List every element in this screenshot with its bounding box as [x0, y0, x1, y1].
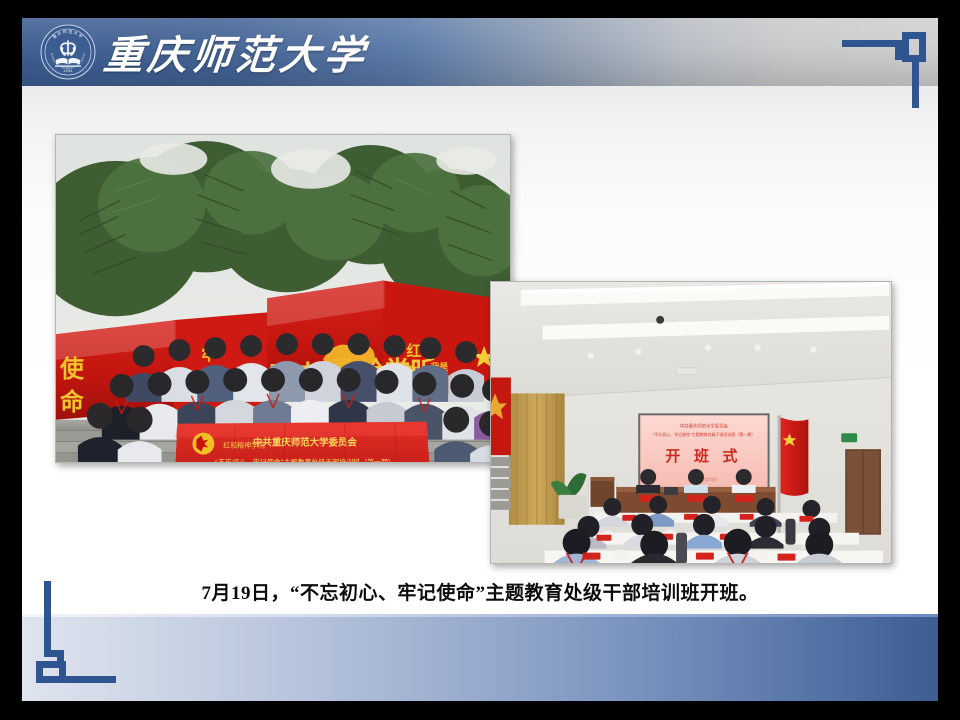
presentation-slide: 重庆师范大学 CHONGQING NORMAL UNIVERSITY: [22, 18, 938, 701]
slide-body: 使 命 牢 不记 红 旗 我是 一名 合格 唱支 歌给党听: [22, 86, 938, 701]
corner-bracket-bottom-left-icon: [32, 581, 120, 689]
screen-title-text: 开 班 式: [665, 447, 742, 465]
group-photo[interactable]: 使 命 牢 不记 红 旗 我是 一名 合格 唱支 歌给党听: [55, 134, 511, 463]
screen-subtitle-text: “不忘初心、牢记使命”主题教育处级干部培训班（第一期）: [653, 432, 756, 437]
svg-text:1954: 1954: [63, 69, 73, 73]
slide-caption: 7月19日，“不忘初心、牢记使命”主题教育处级干部培训班开班。: [22, 578, 938, 605]
header-banner: 重庆师范大学 CHONGQING NORMAL UNIVERSITY: [22, 18, 938, 86]
university-name-text: 重庆师范大学: [101, 23, 371, 81]
university-wordmark: 重庆师范大学: [104, 26, 368, 78]
university-emblem-icon: 重庆师范大学 CHONGQING NORMAL UNIVERSITY: [38, 22, 98, 82]
slide-frame: 重庆师范大学 CHONGQING NORMAL UNIVERSITY: [0, 0, 960, 720]
corner-bracket-top-right-icon: [842, 28, 930, 108]
svg-text:中共重庆师范大学委员会: 中共重庆师范大学委员会: [680, 422, 729, 429]
opening-ceremony-photo[interactable]: 中共重庆师范大学委员会 “不忘初心、牢记使命”主题教育处级干部培训班（第一期） …: [490, 281, 892, 564]
footer-banner: [22, 617, 938, 701]
